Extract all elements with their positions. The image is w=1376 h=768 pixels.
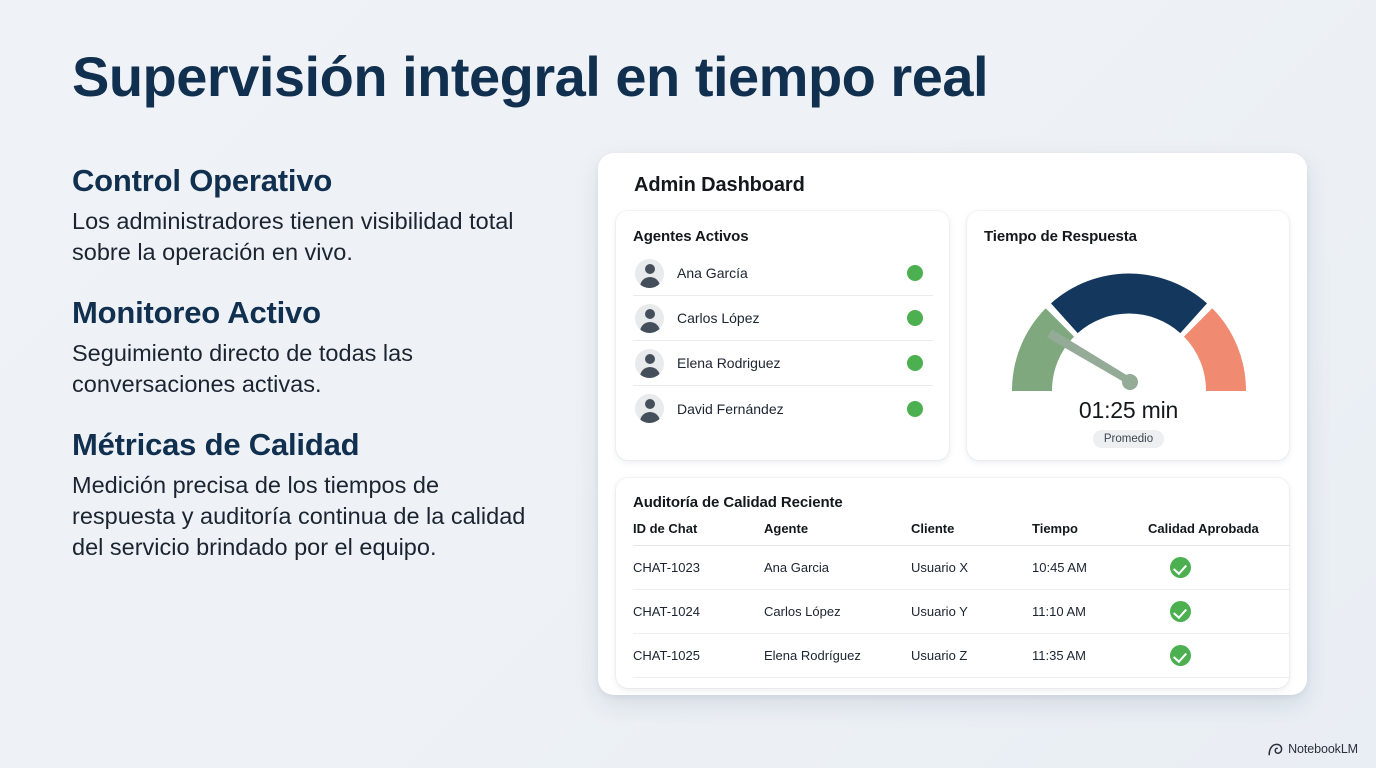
cell-approved bbox=[1148, 634, 1290, 678]
quality-audit-title: Auditoría de Calidad Reciente bbox=[633, 494, 1273, 511]
status-badge-promedio: Promedio bbox=[1093, 430, 1164, 448]
cell-chat-id: CHAT-1025 bbox=[633, 634, 764, 678]
person-icon bbox=[635, 394, 664, 423]
feature-title: Métricas de Calidad bbox=[72, 427, 542, 464]
agents-panel: Agentes Activos Ana García Carlos López … bbox=[616, 211, 949, 460]
person-icon bbox=[635, 259, 664, 288]
table-header: ID de Chat Agente Cliente Tiempo Calidad… bbox=[633, 521, 1290, 546]
gauge-svg bbox=[994, 251, 1264, 401]
agent-name: Elena Rodriguez bbox=[677, 355, 907, 371]
table-row[interactable]: CHAT-1025 Elena Rodríguez Usuario Z 11:3… bbox=[633, 634, 1290, 678]
person-icon bbox=[635, 304, 664, 333]
feature-title: Monitoreo Activo bbox=[72, 295, 542, 332]
cell-time: 11:10 AM bbox=[1032, 590, 1148, 634]
quality-audit-table: ID de Chat Agente Cliente Tiempo Calidad… bbox=[633, 521, 1290, 678]
quality-audit-panel: Auditoría de Calidad Reciente ID de Chat… bbox=[616, 478, 1289, 688]
column-header-time[interactable]: Tiempo bbox=[1032, 521, 1148, 546]
feature-body: Medición precisa de los tiempos de respu… bbox=[72, 470, 542, 564]
cell-chat-id: CHAT-1023 bbox=[633, 546, 764, 590]
cell-approved bbox=[1148, 546, 1290, 590]
feature-list: Control Operativo Los administradores ti… bbox=[72, 163, 542, 563]
feature-item-control-operativo: Control Operativo Los administradores ti… bbox=[72, 163, 542, 268]
status-dot-online bbox=[907, 265, 923, 281]
page-title: Supervisión integral en tiempo real bbox=[72, 47, 988, 107]
check-circle-icon bbox=[1170, 645, 1191, 666]
column-header-approved[interactable]: Calidad Aprobada bbox=[1148, 521, 1290, 546]
gauge-segment-fast bbox=[1011, 308, 1073, 391]
feature-title: Control Operativo bbox=[72, 163, 542, 200]
cell-client: Usuario Z bbox=[911, 634, 1032, 678]
column-header-chat-id[interactable]: ID de Chat bbox=[633, 521, 764, 546]
table-row[interactable]: CHAT-1023 Ana Garcia Usuario X 10:45 AM bbox=[633, 546, 1290, 590]
agent-name: Carlos López bbox=[677, 310, 907, 326]
cell-time: 11:35 AM bbox=[1032, 634, 1148, 678]
column-header-agent[interactable]: Agente bbox=[764, 521, 911, 546]
slide-root: Supervisión integral en tiempo real Cont… bbox=[0, 0, 1376, 768]
cell-agent: Elena Rodríguez bbox=[764, 634, 911, 678]
response-time-gauge bbox=[984, 251, 1273, 401]
cell-agent: Ana Garcia bbox=[764, 546, 911, 590]
admin-dashboard-card: Admin Dashboard Agentes Activos Ana Garc… bbox=[598, 153, 1307, 695]
agent-name: David Fernández bbox=[677, 401, 907, 417]
cell-time: 10:45 AM bbox=[1032, 546, 1148, 590]
response-time-value: 01:25 min bbox=[984, 397, 1273, 424]
cell-agent: Carlos López bbox=[764, 590, 911, 634]
column-header-client[interactable]: Cliente bbox=[911, 521, 1032, 546]
dashboard-title: Admin Dashboard bbox=[634, 174, 1289, 197]
dashboard-top-row: Agentes Activos Ana García Carlos López … bbox=[616, 211, 1289, 460]
agent-list-item[interactable]: Ana García bbox=[633, 251, 933, 296]
response-time-panel-title: Tiempo de Respuesta bbox=[984, 228, 1273, 245]
feature-item-monitoreo-activo: Monitoreo Activo Seguimiento directo de … bbox=[72, 295, 542, 400]
notebooklm-icon bbox=[1268, 743, 1283, 756]
status-dot-online bbox=[907, 355, 923, 371]
agents-panel-title: Agentes Activos bbox=[633, 228, 933, 245]
gauge-segment-slow bbox=[1183, 308, 1245, 391]
notebooklm-label: NotebookLM bbox=[1288, 742, 1358, 756]
feature-body: Seguimiento directo de todas las convers… bbox=[72, 338, 542, 401]
agent-name: Ana García bbox=[677, 265, 907, 281]
status-dot-online bbox=[907, 310, 923, 326]
agent-list-item[interactable]: Carlos López bbox=[633, 296, 933, 341]
check-circle-icon bbox=[1170, 601, 1191, 622]
cell-client: Usuario X bbox=[911, 546, 1032, 590]
feature-body: Los administradores tienen visibilidad t… bbox=[72, 206, 542, 269]
agent-list-item[interactable]: David Fernández bbox=[633, 386, 933, 431]
gauge-needle bbox=[1047, 330, 1138, 391]
table-header-row: ID de Chat Agente Cliente Tiempo Calidad… bbox=[633, 521, 1290, 546]
notebooklm-watermark: NotebookLM bbox=[1268, 742, 1358, 756]
response-time-panel: Tiempo de Respuesta bbox=[967, 211, 1289, 460]
gauge-segment-normal bbox=[1050, 274, 1206, 334]
cell-approved bbox=[1148, 590, 1290, 634]
feature-item-metricas-de-calidad: Métricas de Calidad Medición precisa de … bbox=[72, 427, 542, 563]
table-row[interactable]: CHAT-1024 Carlos López Usuario Y 11:10 A… bbox=[633, 590, 1290, 634]
cell-client: Usuario Y bbox=[911, 590, 1032, 634]
agent-list-item[interactable]: Elena Rodriguez bbox=[633, 341, 933, 386]
check-circle-icon bbox=[1170, 557, 1191, 578]
response-time-badge-row: Promedio bbox=[984, 429, 1273, 448]
person-icon bbox=[635, 349, 664, 378]
table-body: CHAT-1023 Ana Garcia Usuario X 10:45 AM … bbox=[633, 546, 1290, 678]
status-dot-online bbox=[907, 401, 923, 417]
cell-chat-id: CHAT-1024 bbox=[633, 590, 764, 634]
